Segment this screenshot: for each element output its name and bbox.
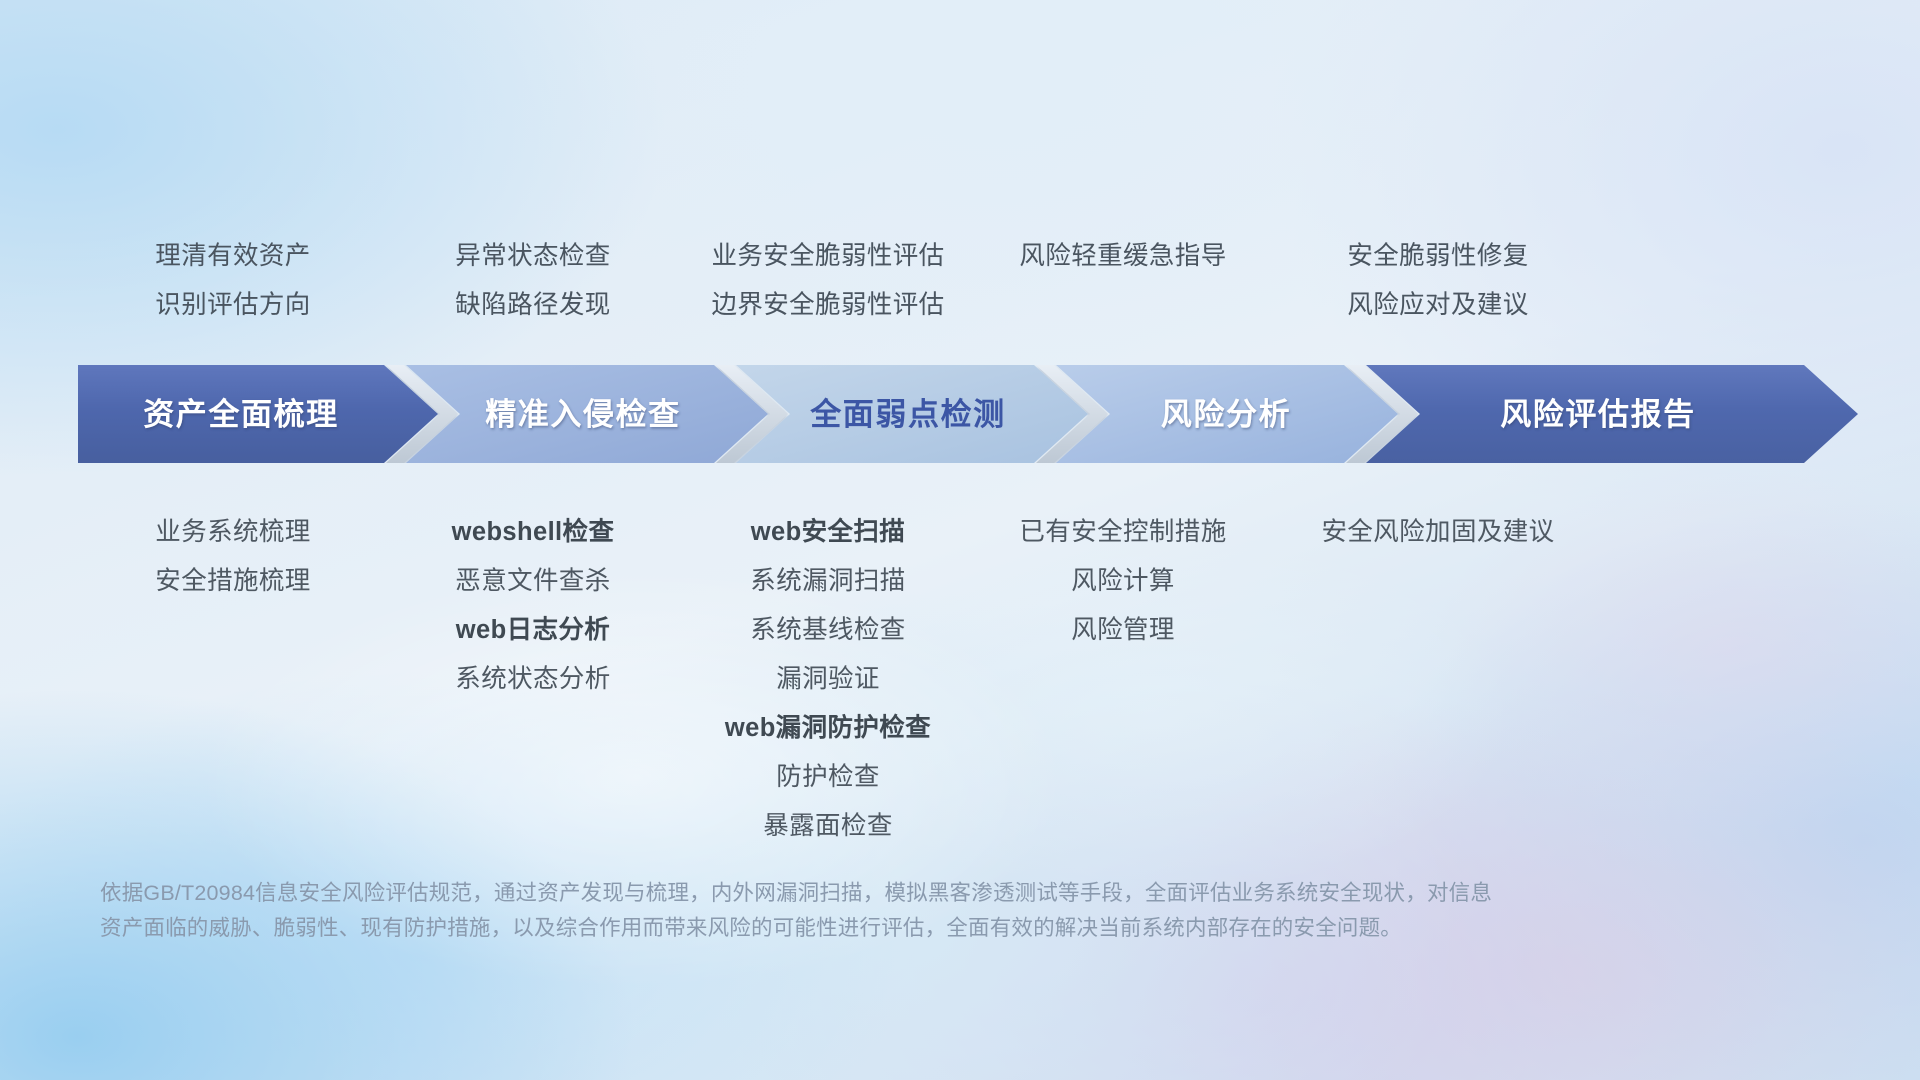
process-chevron-ribbon: 资产全面梳理 精准入侵检查 全面弱点检测 风险分析 风险评估报告 <box>78 365 1858 463</box>
top-item: 缺陷路径发现 <box>388 281 678 330</box>
bottom-item: webshell检查 <box>388 508 678 557</box>
chevron-stage-intrusion-check[interactable]: 精准入侵检查 <box>406 365 768 463</box>
chevron-label-weakness-detection: 全面弱点检测 <box>809 397 1006 432</box>
top-item: 安全脆弱性修复 <box>1268 232 1608 281</box>
chevron-stage-risk-report[interactable]: 风险评估报告 <box>1366 365 1858 463</box>
top-item: 风险应对及建议 <box>1268 281 1608 330</box>
footer-description: 依据GB/T20984信息安全风险评估规范，通过资产发现与梳理，内外网漏洞扫描，… <box>100 876 1660 946</box>
chevron-stage-weakness-detection[interactable]: 全面弱点检测 <box>736 365 1088 463</box>
chevron-label-risk-analysis: 风险分析 <box>1161 397 1291 432</box>
bottom-list-intrusion-check: webshell检查 恶意文件查杀 web日志分析 系统状态分析 <box>388 508 678 704</box>
top-list-weakness-detection: 业务安全脆弱性评估 边界安全脆弱性评估 <box>678 232 978 330</box>
bottom-list-asset-inventory: 业务系统梳理 安全措施梳理 <box>78 508 388 606</box>
footer-line-2: 资产面临的威胁、脆弱性、现有防护措施，以及综合作用而带来风险的可能性进行评估，全… <box>100 911 1660 946</box>
bottom-item: 安全措施梳理 <box>78 557 388 606</box>
bottom-item: 风险管理 <box>978 606 1268 655</box>
bottom-item: 系统漏洞扫描 <box>678 557 978 606</box>
footer-line-1: 依据GB/T20984信息安全风险评估规范，通过资产发现与梳理，内外网漏洞扫描，… <box>100 876 1660 911</box>
top-list-risk-analysis: 风险轻重缓急指导 <box>978 232 1268 281</box>
bottom-item: web日志分析 <box>388 606 678 655</box>
bottom-item: 防护检查 <box>678 753 978 802</box>
top-list-risk-report: 安全脆弱性修复 风险应对及建议 <box>1268 232 1608 330</box>
diagram-stage: 理清有效资产 识别评估方向 业务系统梳理 安全措施梳理 异常状态检查 缺陷路径发… <box>0 0 1920 1080</box>
bottom-item: 暴露面检查 <box>678 802 978 851</box>
chevron-label-intrusion-check: 精准入侵检查 <box>485 397 681 432</box>
bottom-item: 风险计算 <box>978 557 1268 606</box>
bottom-item: 系统基线检查 <box>678 606 978 655</box>
chevron-label-asset-inventory: 资产全面梳理 <box>143 397 339 432</box>
top-item: 异常状态检查 <box>388 232 678 281</box>
top-list-asset-inventory: 理清有效资产 识别评估方向 <box>78 232 388 330</box>
top-item: 边界安全脆弱性评估 <box>678 281 978 330</box>
bottom-list-weakness-detection: web安全扫描 系统漏洞扫描 系统基线检查 漏洞验证 web漏洞防护检查 防护检… <box>678 508 978 851</box>
bottom-item: 漏洞验证 <box>678 655 978 704</box>
bottom-list-risk-analysis: 已有安全控制措施 风险计算 风险管理 <box>978 508 1268 655</box>
bottom-item: web安全扫描 <box>678 508 978 557</box>
top-item: 业务安全脆弱性评估 <box>678 232 978 281</box>
top-item: 理清有效资产 <box>78 232 388 281</box>
top-item: 风险轻重缓急指导 <box>978 232 1268 281</box>
bottom-item: 已有安全控制措施 <box>978 508 1268 557</box>
bottom-item: 安全风险加固及建议 <box>1268 508 1608 557</box>
bottom-item: 系统状态分析 <box>388 655 678 704</box>
top-list-intrusion-check: 异常状态检查 缺陷路径发现 <box>388 232 678 330</box>
bottom-list-risk-report: 安全风险加固及建议 <box>1268 508 1608 557</box>
bottom-item: 恶意文件查杀 <box>388 557 678 606</box>
chevron-stage-asset-inventory[interactable]: 资产全面梳理 <box>78 365 438 463</box>
chevron-label-risk-report: 风险评估报告 <box>1500 397 1696 432</box>
bottom-item: 业务系统梳理 <box>78 508 388 557</box>
top-item: 识别评估方向 <box>78 281 388 330</box>
bottom-item: web漏洞防护检查 <box>678 704 978 753</box>
